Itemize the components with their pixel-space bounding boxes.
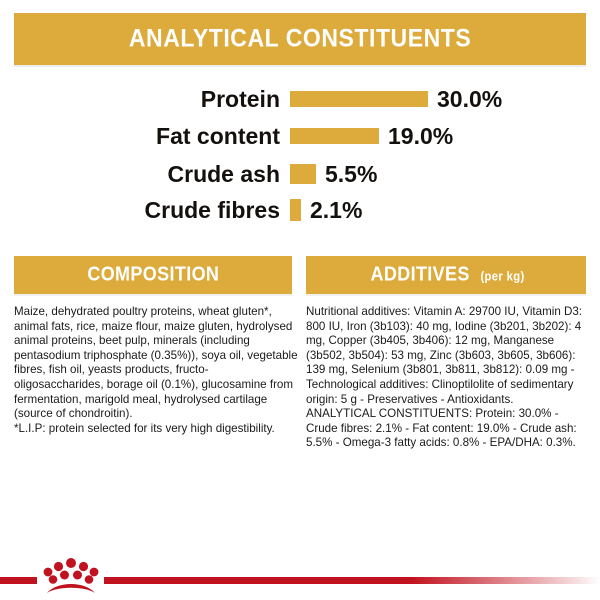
chart-row: Protein 30.0%: [0, 82, 600, 116]
royal-canin-crown-icon: [41, 556, 101, 598]
analytical-constituents-chart: Protein 30.0% Fat content 19.0% Crude as…: [0, 80, 600, 232]
analytical-constituents-header-bar: ANALYTICAL CONSTITUENTS: [14, 13, 586, 65]
analytical-constituents-title-text: ANALYTICAL CONSTITUENTS: [129, 25, 471, 54]
chart-value-label: 30.0%: [437, 88, 502, 111]
analytical-constituents-title: ANALYTICAL CONSTITUENTS: [14, 25, 586, 54]
chart-bar-wrap: 2.1%: [290, 199, 362, 222]
composition-header-bar: COMPOSITION: [14, 256, 292, 294]
additives-title-unit: (per kg): [481, 270, 525, 284]
chart-bar: [290, 164, 316, 184]
chart-bar: [290, 128, 379, 144]
composition-title-text: COMPOSITION: [87, 264, 219, 287]
footer-rule-left: [0, 577, 37, 584]
chart-category-label: Protein: [0, 88, 290, 111]
composition-title: COMPOSITION: [14, 264, 292, 287]
chart-value-label: 2.1%: [310, 199, 362, 222]
composition-ingredients-text: Maize, dehydrated poultry proteins, whea…: [14, 305, 298, 422]
composition-body: Maize, dehydrated poultry proteins, whea…: [14, 305, 298, 436]
chart-row: Crude fibres 2.1%: [0, 193, 600, 227]
chart-category-label: Crude ash: [0, 163, 290, 186]
footer: [0, 555, 600, 600]
additives-body: Nutritional additives: Vitamin A: 29700 …: [306, 305, 590, 451]
additives-analytical-constituents-text: ANALYTICAL CONSTITUENTS: Protein: 30.0% …: [306, 407, 590, 451]
chart-category-label: Crude fibres: [0, 199, 290, 222]
chart-bar-wrap: 19.0%: [290, 125, 453, 148]
additives-title: ADDITIVES(per kg): [306, 264, 586, 287]
composition-footnote-text: *L.I.P: protein selected for its very hi…: [14, 422, 298, 437]
additives-title-text: ADDITIVES: [370, 264, 469, 287]
chart-bar: [290, 199, 301, 221]
chart-category-label: Fat content: [0, 125, 290, 148]
chart-row: Crude ash 5.5%: [0, 157, 600, 191]
footer-rule-right: [104, 577, 600, 584]
additives-list-text: Nutritional additives: Vitamin A: 29700 …: [306, 305, 590, 407]
chart-value-label: 19.0%: [388, 125, 453, 148]
chart-bar: [290, 91, 428, 107]
chart-bar-wrap: 30.0%: [290, 88, 502, 111]
chart-bar-wrap: 5.5%: [290, 163, 377, 186]
chart-value-label: 5.5%: [325, 163, 377, 186]
chart-row: Fat content 19.0%: [0, 119, 600, 153]
additives-header-bar: ADDITIVES(per kg): [306, 256, 586, 294]
